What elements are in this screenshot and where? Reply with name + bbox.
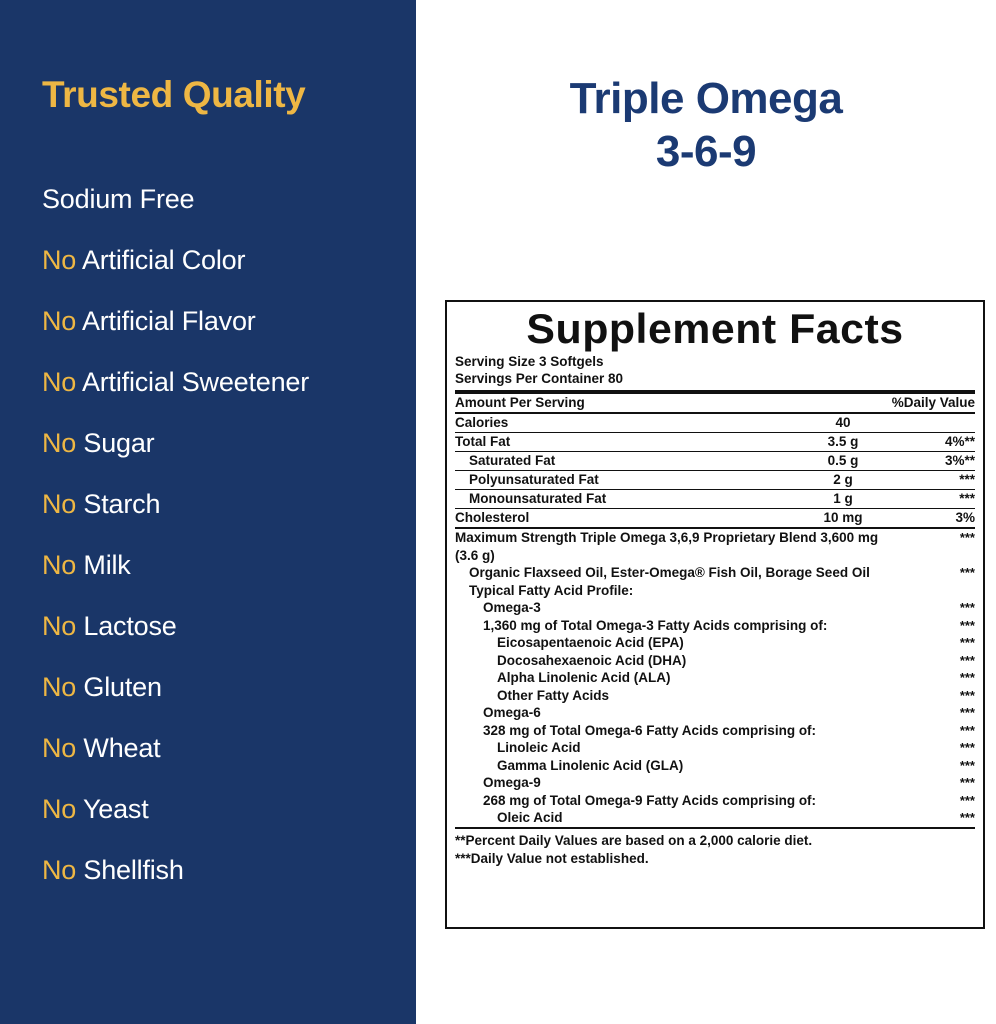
blend-row: Oleic Acid*** (455, 809, 975, 827)
blend-item-name: Docosahexaenoic Acid (DHA) (455, 652, 903, 670)
footnotes-block: **Percent Daily Values are based on a 2,… (455, 829, 975, 868)
claim-text: Milk (83, 550, 130, 580)
blend-item-name: Omega-9 (455, 774, 903, 792)
blend-item-name: Gamma Linolenic Acid (GLA) (455, 757, 903, 775)
nutrient-name: Calories (455, 414, 783, 433)
blend-row: Omega-6*** (455, 704, 975, 722)
nutrient-row: Cholesterol10 mg3% (455, 509, 975, 527)
nutrient-row: Total Fat3.5 g4%** (455, 433, 975, 452)
quality-claim-item: No Shellfish (42, 854, 402, 887)
claim-text: Sodium Free (42, 184, 194, 214)
quality-claims-list: Sodium FreeNo Artificial ColorNo Artific… (42, 183, 402, 915)
quality-claim-item: No Milk (42, 549, 402, 582)
product-title: Triple Omega 3-6-9 (416, 72, 996, 178)
nutrient-row: Calories40 (455, 414, 975, 433)
blend-item-name: Omega-6 (455, 704, 903, 722)
nutrient-table: Calories40Total Fat3.5 g4%**Saturated Fa… (455, 414, 975, 527)
blend-item-daily-value: *** (903, 774, 975, 792)
blend-item-daily-value: *** (903, 739, 975, 757)
quality-claim-item: No Wheat (42, 732, 402, 765)
blend-row: 328 mg of Total Omega-6 Fatty Acids comp… (455, 722, 975, 740)
blend-item-name: Omega-3 (455, 599, 903, 617)
blend-item-name: Alpha Linolenic Acid (ALA) (455, 669, 903, 687)
proprietary-blend-block: Maximum Strength Triple Omega 3,6,9 Prop… (455, 529, 975, 827)
nutrient-name: Cholesterol (455, 509, 783, 527)
blend-item-name: Linoleic Acid (455, 739, 903, 757)
nutrient-name: Monounsaturated Fat (455, 490, 783, 509)
blend-row: Maximum Strength Triple Omega 3,6,9 Prop… (455, 529, 975, 564)
blend-item-daily-value: *** (903, 564, 975, 582)
supplement-facts-box: Supplement Facts Serving Size 3 Softgels… (445, 300, 985, 929)
nutrient-name: Saturated Fat (455, 452, 783, 471)
claim-text: Gluten (83, 672, 161, 702)
claim-no-prefix: No (42, 245, 82, 275)
blend-item-daily-value: *** (903, 704, 975, 722)
nutrient-daily-value: 3%** (903, 452, 975, 471)
blend-row: Eicosapentaenoic Acid (EPA)*** (455, 634, 975, 652)
blend-row: Alpha Linolenic Acid (ALA)*** (455, 669, 975, 687)
blend-item-name: 1,360 mg of Total Omega-3 Fatty Acids co… (455, 617, 903, 635)
nutrient-amount: 40 (783, 414, 903, 433)
claim-text: Artificial Sweetener (82, 367, 309, 397)
claim-no-prefix: No (42, 733, 83, 763)
quality-claim-item: No Starch (42, 488, 402, 521)
supplement-label-page: Trusted Quality Sodium FreeNo Artificial… (0, 0, 996, 1024)
servings-per-container: Servings Per Container 80 (455, 371, 975, 388)
quality-claim-item: No Gluten (42, 671, 402, 704)
claim-no-prefix: No (42, 367, 82, 397)
blend-item-daily-value: *** (903, 722, 975, 740)
quality-claim-item: Sodium Free (42, 183, 402, 216)
blend-row: 268 mg of Total Omega-9 Fatty Acids comp… (455, 792, 975, 810)
quality-claim-item: No Yeast (42, 793, 402, 826)
blend-row: Other Fatty Acids*** (455, 687, 975, 705)
nutrient-amount: 2 g (783, 471, 903, 490)
claim-text: Artificial Color (82, 245, 245, 275)
blend-item-name: 268 mg of Total Omega-9 Fatty Acids comp… (455, 792, 903, 810)
quality-claim-item: No Lactose (42, 610, 402, 643)
nutrient-daily-value: *** (903, 471, 975, 490)
blend-item-daily-value: *** (903, 529, 975, 547)
amount-header-table: Amount Per Serving %Daily Value (455, 394, 975, 412)
nutrient-row: Polyunsaturated Fat2 g*** (455, 471, 975, 490)
nutrient-row: Saturated Fat0.5 g3%** (455, 452, 975, 471)
nutrient-daily-value: 3% (903, 509, 975, 527)
product-title-line1: Triple Omega (416, 72, 996, 125)
blend-item-name: Maximum Strength Triple Omega 3,6,9 Prop… (455, 529, 903, 564)
trusted-quality-panel: Trusted Quality Sodium FreeNo Artificial… (0, 0, 416, 1024)
claim-text: Lactose (83, 611, 176, 641)
blend-item-daily-value: *** (903, 599, 975, 617)
blend-item-daily-value: *** (903, 617, 975, 635)
claim-no-prefix: No (42, 611, 83, 641)
blend-item-daily-value: *** (903, 757, 975, 775)
claim-text: Shellfish (83, 855, 183, 885)
claim-no-prefix: No (42, 794, 83, 824)
claim-text: Starch (83, 489, 160, 519)
blend-item-daily-value: *** (903, 809, 975, 827)
supplement-facts-title: Supplement Facts (450, 306, 980, 352)
claim-text: Sugar (83, 428, 154, 458)
claim-no-prefix: No (42, 489, 83, 519)
nutrient-name: Total Fat (455, 433, 783, 452)
blend-row: 1,360 mg of Total Omega-3 Fatty Acids co… (455, 617, 975, 635)
blend-row: Docosahexaenoic Acid (DHA)*** (455, 652, 975, 670)
blend-item-name: Typical Fatty Acid Profile: (455, 582, 903, 600)
quality-claim-item: No Artificial Color (42, 244, 402, 277)
claim-no-prefix: No (42, 855, 83, 885)
amount-header-row: Amount Per Serving %Daily Value (455, 394, 975, 412)
nutrient-amount: 1 g (783, 490, 903, 509)
blend-item-daily-value: *** (903, 669, 975, 687)
quality-claim-item: No Sugar (42, 427, 402, 460)
claim-no-prefix: No (42, 306, 82, 336)
nutrient-name: Polyunsaturated Fat (455, 471, 783, 490)
claim-text: Yeast (83, 794, 149, 824)
product-title-line2: 3-6-9 (416, 125, 996, 178)
daily-value-label: %Daily Value (715, 394, 975, 412)
serving-size: Serving Size 3 Softgels (455, 354, 975, 371)
claim-text: Artificial Flavor (82, 306, 256, 336)
blend-row: Linoleic Acid*** (455, 739, 975, 757)
blend-row: Organic Flaxseed Oil, Ester-Omega® Fish … (455, 564, 975, 582)
blend-item-name: Organic Flaxseed Oil, Ester-Omega® Fish … (455, 564, 903, 582)
serving-info: Serving Size 3 Softgels Servings Per Con… (455, 354, 975, 387)
amount-per-serving-label: Amount Per Serving (455, 394, 715, 412)
blend-item-name: 328 mg of Total Omega-6 Fatty Acids comp… (455, 722, 903, 740)
blend-item-name: Oleic Acid (455, 809, 903, 827)
blend-item-daily-value: *** (903, 687, 975, 705)
blend-item-name: Eicosapentaenoic Acid (EPA) (455, 634, 903, 652)
claim-no-prefix: No (42, 672, 83, 702)
nutrient-row: Monounsaturated Fat1 g*** (455, 490, 975, 509)
nutrient-daily-value: *** (903, 490, 975, 509)
nutrient-amount: 10 mg (783, 509, 903, 527)
blend-item-daily-value: *** (903, 634, 975, 652)
quality-claim-item: No Artificial Flavor (42, 305, 402, 338)
blend-row: Omega-9*** (455, 774, 975, 792)
blend-row: Omega-3*** (455, 599, 975, 617)
trusted-quality-heading: Trusted Quality (42, 74, 305, 116)
claim-text: Wheat (83, 733, 160, 763)
nutrient-amount: 3.5 g (783, 433, 903, 452)
claim-no-prefix: No (42, 428, 83, 458)
nutrient-daily-value (903, 414, 975, 433)
nutrient-daily-value: 4%** (903, 433, 975, 452)
blend-item-daily-value: *** (903, 792, 975, 810)
footnote: ***Daily Value not established. (455, 850, 975, 868)
quality-claim-item: No Artificial Sweetener (42, 366, 402, 399)
nutrient-amount: 0.5 g (783, 452, 903, 471)
blend-row: Typical Fatty Acid Profile: (455, 582, 975, 600)
footnote: **Percent Daily Values are based on a 2,… (455, 832, 975, 850)
blend-item-name: Other Fatty Acids (455, 687, 903, 705)
blend-item-daily-value: *** (903, 652, 975, 670)
blend-row: Gamma Linolenic Acid (GLA)*** (455, 757, 975, 775)
claim-no-prefix: No (42, 550, 83, 580)
